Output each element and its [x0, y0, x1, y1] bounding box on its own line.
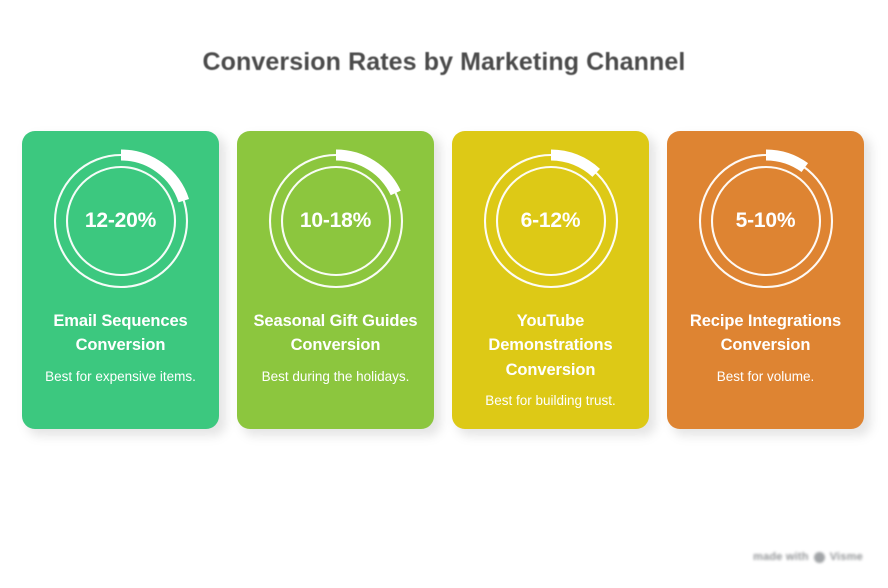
donut-value-label: 10-18% [300, 209, 371, 233]
card-title: Recipe Integrations Conversion [677, 309, 855, 358]
card-title: Email Sequences Conversion [32, 309, 210, 358]
channel-card-slot: 12-20%Email Sequences ConversionBest for… [22, 131, 221, 435]
donut-chart: 12-20% [45, 145, 197, 297]
card-subtitle: Best for expensive items. [35, 368, 207, 386]
donut-value-label: 6-12% [521, 209, 581, 233]
card-title: Seasonal Gift Guides Conversion [247, 309, 425, 358]
donut-chart: 10-18% [260, 145, 412, 297]
watermark-text-right: Visme [830, 551, 863, 563]
infographic-page: Conversion Rates by Marketing Channel 12… [0, 0, 888, 588]
card-subtitle: Best for building trust. [465, 392, 637, 410]
channel-card[interactable]: 10-18%Seasonal Gift Guides ConversionBes… [237, 131, 434, 429]
page-title: Conversion Rates by Marketing Channel [0, 48, 888, 77]
channel-cards-row: 12-20%Email Sequences ConversionBest for… [22, 131, 866, 435]
donut-value-label: 12-20% [85, 209, 156, 233]
card-title: YouTube Demonstrations Conversion [462, 309, 640, 382]
circle-logo-icon [814, 552, 825, 563]
channel-card-slot: 6-12%YouTube Demonstrations ConversionBe… [452, 131, 651, 435]
donut-chart: 5-10% [690, 145, 842, 297]
card-subtitle: Best during the holidays. [250, 368, 422, 386]
donut-value-label: 5-10% [736, 209, 796, 233]
card-subtitle: Best for volume. [680, 368, 852, 386]
channel-card[interactable]: 5-10%Recipe Integrations ConversionBest … [667, 131, 864, 429]
channel-card[interactable]: 12-20%Email Sequences ConversionBest for… [22, 131, 219, 429]
channel-card-slot: 10-18%Seasonal Gift Guides ConversionBes… [237, 131, 436, 435]
channel-card-slot: 5-10%Recipe Integrations ConversionBest … [667, 131, 866, 435]
donut-chart: 6-12% [475, 145, 627, 297]
channel-card[interactable]: 6-12%YouTube Demonstrations ConversionBe… [452, 131, 649, 429]
watermark-text-left: made with [753, 551, 809, 563]
watermark[interactable]: made with Visme [742, 542, 874, 572]
